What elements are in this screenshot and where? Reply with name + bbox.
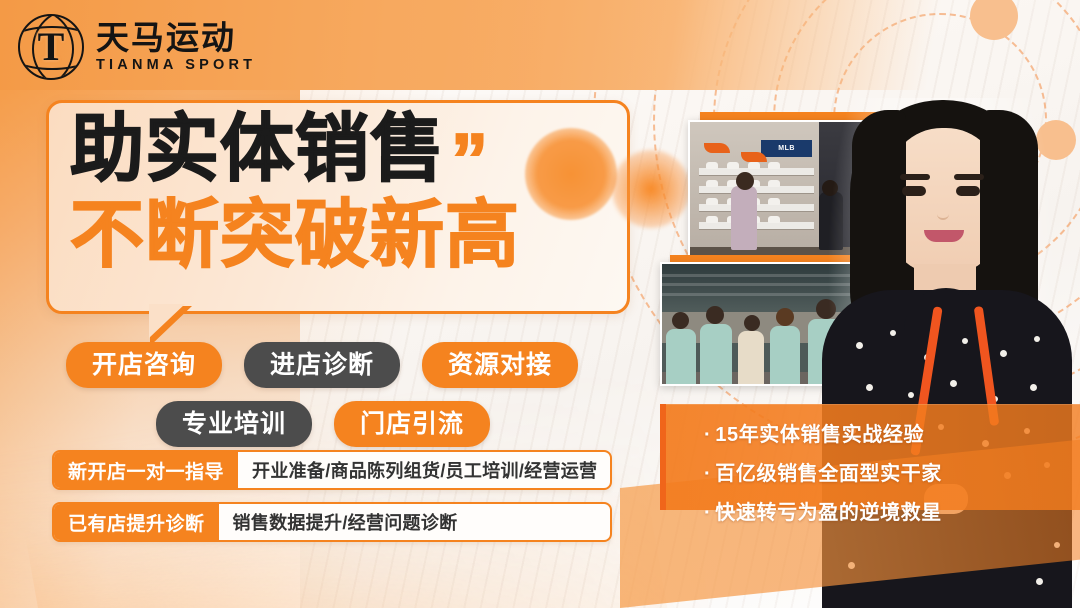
info-bar-new-store-key: 新开店一对一指导 <box>54 452 238 488</box>
quote-mark-icon: ” <box>451 133 488 186</box>
bullet-dot-icon: · <box>704 463 711 485</box>
credential-text-1: 15年实体销售实战经验 <box>715 424 924 446</box>
info-bar-new-store-value: 开业准备/商品陈列组货/员工培训/经营运营 <box>238 452 611 488</box>
brand-logo[interactable]: T 天马运动 TIANMA SPORT <box>18 14 256 80</box>
headline-block: 助实体销售 ” 不断突破新高 <box>70 112 630 272</box>
info-bar-existing-store[interactable]: 已有店提升诊断 销售数据提升/经营问题诊断 <box>52 502 612 542</box>
logo-letter-t: T <box>20 27 82 67</box>
credential-item-2: ·百亿级销售全面型实干家 <box>704 457 1034 486</box>
brand-name-en: TIANMA SPORT <box>96 58 256 73</box>
service-pill-zhuanye-peixun[interactable]: 专业培训 <box>156 401 312 447</box>
credential-text-3: 快速转亏为盈的逆境救星 <box>715 502 942 524</box>
info-bar-new-store[interactable]: 新开店一对一指导 开业准备/商品陈列组货/员工培训/经营运营 <box>52 450 612 490</box>
info-bar-group: 新开店一对一指导 开业准备/商品陈列组货/员工培训/经营运营 已有店提升诊断 销… <box>52 450 612 554</box>
brand-logo-text: 天马运动 TIANMA SPORT <box>96 21 256 72</box>
credentials-band-left-edge <box>660 404 666 510</box>
basketball-t-emblem-icon: T <box>18 14 84 80</box>
info-bar-existing-store-value: 销售数据提升/经营问题诊断 <box>219 504 610 540</box>
service-pill-group: 开店咨询 进店诊断 资源对接 专业培训 门店引流 <box>66 342 666 460</box>
service-pill-jindian-zhenduan[interactable]: 进店诊断 <box>244 342 400 388</box>
service-pill-ziyuan-duijie[interactable]: 资源对接 <box>422 342 578 388</box>
service-pill-kaidian-zixun[interactable]: 开店咨询 <box>66 342 222 388</box>
brand-name-cn: 天马运动 <box>96 21 256 56</box>
headline-line-2: 不断突破新高 <box>70 198 630 272</box>
bullet-dot-icon: · <box>704 502 711 524</box>
credentials-list: ·15年实体销售实战经验 ·百亿级销售全面型实干家 ·快速转亏为盈的逆境救星 <box>704 418 1034 525</box>
credential-item-3: ·快速转亏为盈的逆境救星 <box>704 496 1034 525</box>
bullet-dot-icon: · <box>704 424 711 446</box>
service-pill-mendian-yinliu[interactable]: 门店引流 <box>334 401 490 447</box>
credential-text-2: 百亿级销售全面型实干家 <box>715 463 942 485</box>
credential-item-1: ·15年实体销售实战经验 <box>704 418 1034 447</box>
promo-banner: T 天马运动 TIANMA SPORT 助实体销售 ” 不断突破新高 开店咨询 … <box>0 0 1080 608</box>
info-bar-existing-store-key: 已有店提升诊断 <box>54 504 219 540</box>
headline-line-1: 助实体销售 <box>70 112 445 186</box>
speech-bubble-tail <box>150 306 192 346</box>
